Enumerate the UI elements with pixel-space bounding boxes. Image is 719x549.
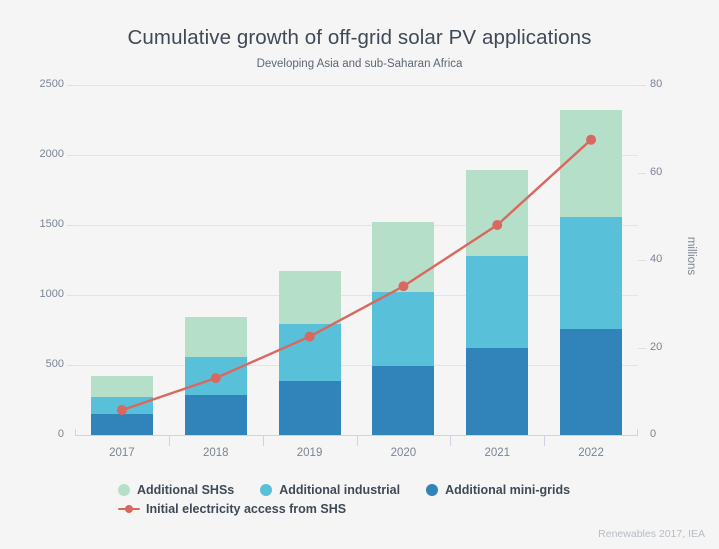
bar-group[interactable] [466,85,528,435]
y-axis-left-tick-mark [67,155,75,156]
bar-segment[interactable] [560,217,622,330]
y-axis-right-tick-mark [638,348,646,349]
y-axis-right-tick-label: 0 [650,428,700,440]
bar-segment[interactable] [185,395,247,435]
y-axis-left-tick-mark [67,295,75,296]
y-axis-right-tick-mark [638,260,646,261]
bar-segment[interactable] [91,414,153,435]
y-axis-right-tick-mark [638,85,646,86]
gridline [75,155,638,156]
legend-item[interactable]: Additional SHSs [118,483,234,497]
x-axis-tick-label: 2022 [544,447,638,459]
legend-line-dot-icon [118,503,140,515]
y-axis-left-tick-mark [67,365,75,366]
bar-group[interactable] [372,85,434,435]
bar-segment[interactable] [372,292,434,367]
bar-segment[interactable] [372,366,434,435]
y-axis-right-tick-label: 60 [650,166,700,178]
source-credit: Renewables 2017, IEA [598,528,705,540]
legend-dot-icon [118,484,130,496]
line-series-layer [75,85,638,435]
bar-segment[interactable] [466,170,528,256]
x-axis-tick-mark [544,436,545,446]
x-axis-tick-label: 2020 [357,447,451,459]
legend-item-label: Additional mini-grids [445,483,570,497]
y-axis-right-tick-label: 40 [650,253,700,265]
y-axis-left-tick-label: 2000 [0,148,64,160]
bar-group[interactable] [91,85,153,435]
legend-item-label: Initial electricity access from SHS [146,502,346,516]
legend-item-label: Additional SHSs [137,483,234,497]
bar-group[interactable] [185,85,247,435]
legend-row-primary: Additional SHSsAdditional industrialAddi… [118,480,678,499]
bar-group[interactable] [560,85,622,435]
y-axis-left-tick-label: 2500 [0,78,64,90]
y-axis-left-tick-label: 1000 [0,288,64,300]
bar-segment[interactable] [560,329,622,435]
legend-dot-icon [260,484,272,496]
bar-segment[interactable] [279,324,341,381]
x-axis-tick-mark [357,436,358,446]
bar-segment[interactable] [372,222,434,292]
x-axis-tick-label: 2017 [75,447,169,459]
gridline [75,295,638,296]
x-axis-cap-left [75,429,76,436]
gridline [75,85,638,86]
bar-group[interactable] [279,85,341,435]
legend-item[interactable]: Additional industrial [260,483,400,497]
x-axis-tick-mark [263,436,264,446]
y-axis-left-tick-label: 500 [0,358,64,370]
bar-segment[interactable] [91,397,153,414]
bar-segment[interactable] [279,271,341,324]
x-axis-tick-label: 2021 [450,447,544,459]
y-axis-left-tick-label: 1500 [0,218,64,230]
x-axis-tick-label: 2019 [263,447,357,459]
chart-title: Cumulative growth of off-grid solar PV a… [0,26,719,50]
y-axis-left-tick-mark [67,85,75,86]
y-axis-left-tick-label: 0 [0,428,64,440]
y-axis-right-tick-label: 80 [650,78,700,90]
gridline [75,365,638,366]
bar-segment[interactable] [466,256,528,348]
legend-row-secondary: Initial electricity access from SHS [118,499,678,518]
bar-segment[interactable] [185,357,247,395]
bar-segment[interactable] [279,381,341,435]
bar-segment[interactable] [185,317,247,357]
bar-segment[interactable] [466,348,528,436]
y-axis-right-tick-label: 20 [650,341,700,353]
legend-dot-icon [426,484,438,496]
x-axis-cap-right [637,429,638,436]
x-axis-tick-mark [450,436,451,446]
bar-segment[interactable] [91,376,153,397]
y-axis-left-tick-mark [67,225,75,226]
chart-subtitle: Developing Asia and sub-Saharan Africa [0,58,719,70]
legend-item[interactable]: Additional mini-grids [426,483,570,497]
gridline [75,225,638,226]
bar-segment[interactable] [560,110,622,216]
y-axis-right-tick-mark [638,173,646,174]
x-axis-tick-label: 2018 [169,447,263,459]
plot-area [75,85,638,435]
legend-item-label: Additional industrial [279,483,400,497]
chart-figure: Cumulative growth of off-grid solar PV a… [0,0,719,549]
chart-legend: Additional SHSsAdditional industrialAddi… [118,480,678,518]
legend-item[interactable]: Initial electricity access from SHS [118,502,346,516]
x-axis-tick-mark [169,436,170,446]
